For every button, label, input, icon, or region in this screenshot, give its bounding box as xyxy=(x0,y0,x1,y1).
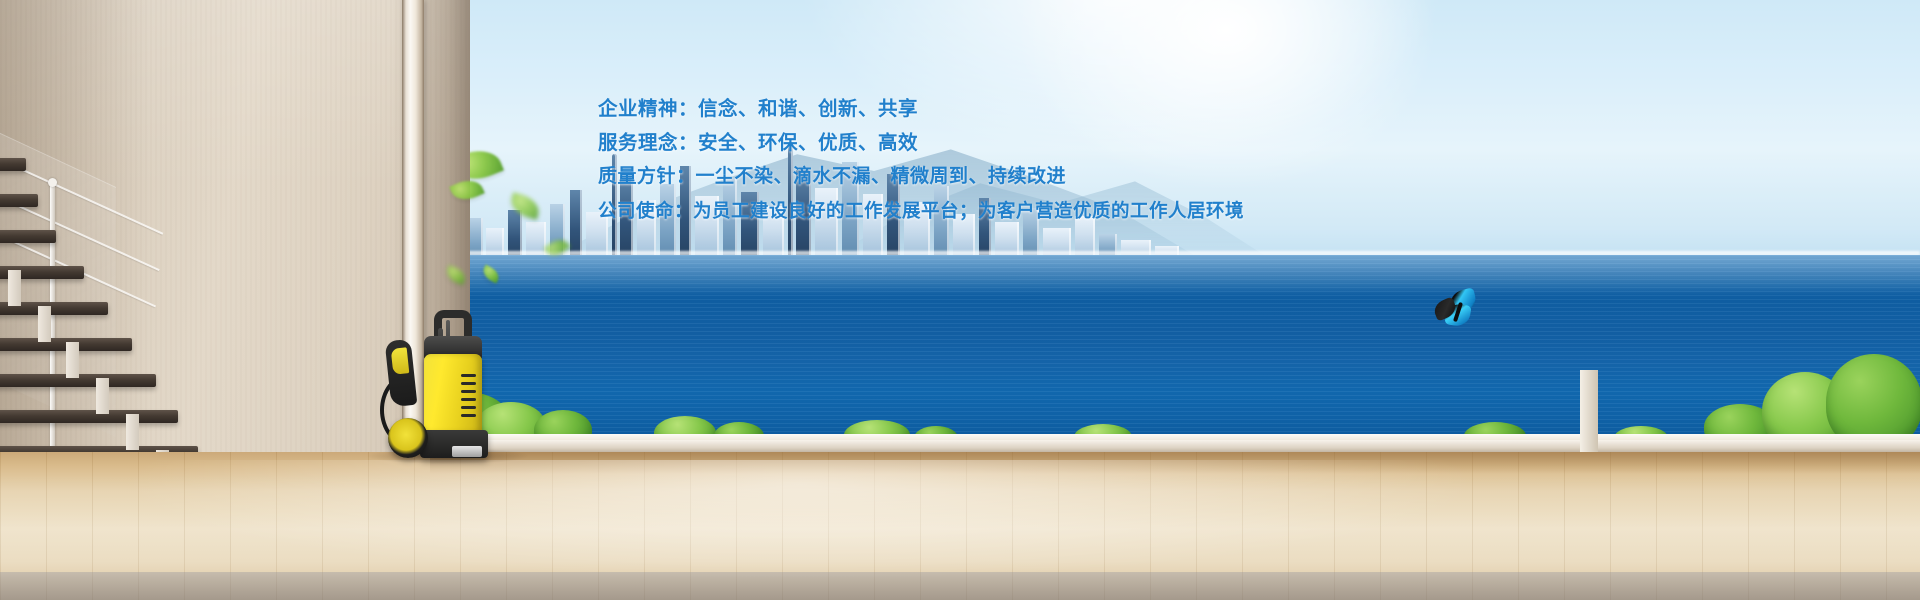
slogan-block: 企业精神：信念、和谐、创新、共享 服务理念：安全、环保、优质、高效 质量方针：一… xyxy=(598,92,1358,228)
ocean-shimmer xyxy=(414,255,1920,295)
foreground-foliage xyxy=(414,376,1920,440)
washer-wheel xyxy=(388,418,428,458)
washer-base-plate xyxy=(452,446,482,457)
slogan-line-4: 公司使命：为员工建设良好的工作发展平台；为客户营造优质的工作人居环境 xyxy=(598,194,1358,228)
stair-tread xyxy=(0,158,26,171)
banner-stage: 企业精神：信念、和谐、创新、共享 服务理念：安全、环保、优质、高效 质量方针：一… xyxy=(0,0,1920,600)
slogan-line-1: 企业精神：信念、和谐、创新、共享 xyxy=(598,92,1358,126)
stair-tread xyxy=(0,410,178,423)
butterfly xyxy=(1434,290,1482,332)
washer-body xyxy=(424,354,482,436)
pressure-washer xyxy=(378,318,514,460)
railing-cap xyxy=(48,178,57,187)
stair-tread xyxy=(0,194,38,207)
floor-foreground-band xyxy=(0,572,1920,600)
baseboard-corner xyxy=(1580,370,1598,454)
floor-shadow-band xyxy=(430,452,1920,474)
slogan-line-3: 质量方针：一尘不染、滴水不漏、精微周到、持续改进 xyxy=(598,160,1358,194)
stair-tread xyxy=(0,230,56,243)
washer-trigger xyxy=(391,347,410,375)
staircase xyxy=(0,130,224,460)
slogan-line-2: 服务理念：安全、环保、优质、高效 xyxy=(598,126,1358,160)
